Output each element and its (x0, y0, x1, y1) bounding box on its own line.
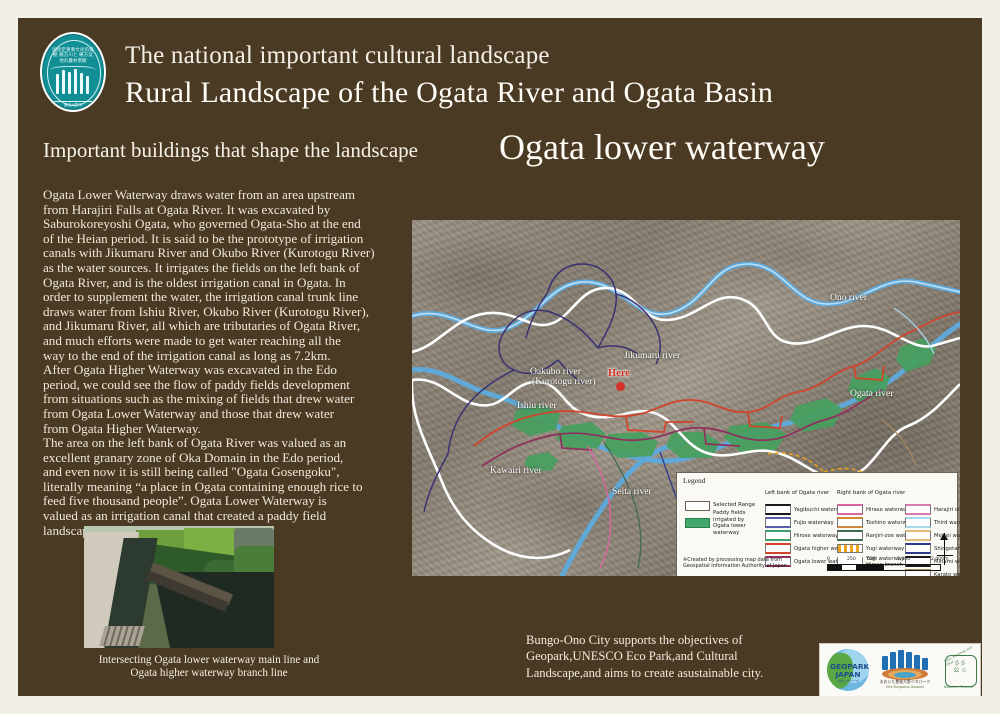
body-text-line-5: canals with Jikumaru River and Okubo Riv… (43, 246, 415, 261)
map-legend: Legend Selected Range Paddy fields irrig… (676, 472, 958, 576)
ogata-waterway-map[interactable]: Ono riverJikumaru riverOakubo river(Kuro… (412, 220, 960, 576)
seal-bottom-text: 豊後大野市 (42, 103, 104, 108)
map-label-6: Kawairi river (490, 465, 541, 476)
oita-geopark-en: Oita Bungoono Geopark (876, 685, 934, 690)
body-text-line-15: from situations such as the mixing of fi… (43, 392, 415, 407)
map-label-0: Ono river (830, 292, 867, 303)
body-text-line-12: way to the end of the irrigation canal a… (43, 349, 415, 364)
body-text-line-9: draws water from Ishiu River, Okubo Rive… (43, 305, 415, 320)
body-text-line-8: order to supplement the water, the irrig… (43, 290, 415, 305)
body-text-line-21: literally meaning “a place in Ogata cont… (43, 480, 415, 495)
geoparks-japan-logo-icon: GEOPARKS JAPAN 日本ジオパーク (827, 649, 869, 691)
waterway-photo (84, 526, 274, 648)
poster-canvas: 国指定重要文化的景観 緒方川と 緒方盆地の農村景観 豊後大野市 The nati… (18, 18, 982, 696)
seal-japanese-text: 国指定重要文化的景観 緒方川と 緒方盆地の農村景観 (51, 48, 95, 64)
scale-bar-graphic (827, 564, 941, 571)
map-label-5: Ishiu river (517, 400, 557, 411)
body-text-line-20: and even now it is still being called "O… (43, 465, 415, 480)
body-text-line-19: excellent granary zone of Oka Domain in … (43, 451, 415, 466)
body-text-line-3: Saburokoreyoshi Ogata, who governed Ogat… (43, 217, 415, 232)
map-label-7: Seita river (612, 486, 652, 497)
photo-caption-line1: Intersecting Ogata lower waterway main l… (44, 654, 374, 667)
legend-selected-range-label: Selected Range (713, 502, 755, 509)
body-text-line-7: Ogata River, and is the oldest irrigatio… (43, 276, 415, 291)
scale-tick-2: 500 (867, 557, 876, 562)
here-marker-label: Here (608, 368, 630, 379)
header-line1: The national important cultural landscap… (125, 42, 550, 70)
body-text-line-1: Ogata Lower Waterway draws water from an… (43, 188, 415, 203)
biosphere-top-text: Sobo, Katamuki and Okue (943, 641, 982, 667)
footer-logo-strip: GEOPARKS JAPAN 日本ジオパーク おおいた豊後大野ジオパーク Oit… (819, 643, 981, 696)
footer-text: Bungo-Ono City supports the objectives o… (526, 632, 816, 681)
map-label-1: Jikumaru river (624, 350, 680, 361)
legend-title: Legend (683, 476, 706, 485)
scale-tick-1: 250 (847, 557, 856, 562)
photo-caption-line2: Ogata higher waterway branch line (44, 667, 374, 680)
body-text-line-17: from Ogata Higher Waterway. (43, 422, 415, 437)
photo-caption: Intersecting Ogata lower waterway main l… (44, 654, 374, 680)
body-text-line-10: and Jikumaru River, all which are tribut… (43, 319, 415, 334)
paddy-fields-swatch-icon (685, 518, 710, 528)
header-line2: Rural Landscape of the Ogata River and O… (125, 76, 773, 110)
legend-attribution: ※Created by processing map data from Geo… (683, 557, 787, 570)
map-label-4: Ogata river (850, 388, 893, 399)
body-text-line-13: After Ogata Higher Waterway was excavate… (43, 363, 415, 378)
map-label-3: (Kurotogu river) (532, 376, 596, 387)
legend-paddy-fields-label: Paddy fields irrigated by Ogata lower wa… (713, 510, 759, 536)
body-text-line-11: and much efforts were made to get water … (43, 334, 415, 349)
legend-item-label: Karato waterway (934, 572, 960, 577)
ogata-landscape-seal-icon: 国指定重要文化的景観 緒方川と 緒方盆地の農村景観 豊後大野市 (40, 32, 106, 110)
body-text: Ogata Lower Waterway draws water from an… (43, 188, 415, 538)
legend-paddy-fields: Paddy fields irrigated by Ogata lower wa… (685, 510, 763, 536)
oita-bungoono-geopark-logo-icon: おおいた豊後大野ジオパーク Oita Bungoono Geopark (876, 648, 934, 693)
north-arrow-icon (937, 533, 953, 567)
footer-line2: Geopark,UNESCO Eco Park,and Cultural (526, 648, 816, 664)
legend-col-head-left: Left bank of Ogata river (765, 490, 829, 496)
body-text-line-4: of the Heian period. It is said to be th… (43, 232, 415, 247)
body-text-line-18: The area on the left bank of Ogata River… (43, 436, 415, 451)
body-text-line-2: from Harajiri Falls at Ogata River. It w… (43, 203, 415, 218)
biosphere-bottom-text: Biosphere Reserve (944, 685, 973, 689)
body-text-line-14: period, we could see the flow of paddy f… (43, 378, 415, 393)
legend-col-head-right: Right bank of Ogata river (837, 490, 905, 496)
legend-attribution-line2: Geospatial Information Authority of Japa… (683, 563, 787, 569)
footer-line1: Bungo-Ono City supports the objectives o… (526, 632, 816, 648)
poster-header: 国指定重要文化的景観 緒方川と 緒方盆地の農村景観 豊後大野市 The nati… (40, 28, 870, 118)
body-text-line-23: valued as an irrigation canal that creat… (43, 509, 415, 524)
body-text-line-6: as the water sources. It irrigates the f… (43, 261, 415, 276)
body-text-line-22: feed five thousand people”. Ogata Lower … (43, 494, 415, 509)
scale-tick-3: 1,000 (897, 557, 910, 562)
section-subtitle-right: Ogata lower waterway (499, 126, 825, 168)
section-subtitle-left: Important buildings that shape the lands… (43, 138, 418, 163)
footer-line3: Landscape,and aims to create asustainabl… (526, 665, 816, 681)
oita-geopark-jp: おおいた豊後大野ジオパーク (880, 679, 931, 684)
geoparks-japan-tiny: 日本ジオパーク (830, 678, 866, 686)
biosphere-reserve-logo-icon: 彡彡公 ☉ Sobo, Katamuki and Okue Biosphere … (939, 648, 982, 692)
scale-tick-0: 0 (827, 557, 830, 562)
geoparks-japan-sub: JAPAN (830, 671, 866, 679)
here-marker-dot-icon (616, 382, 625, 391)
body-text-line-16: from Ogata Lower Waterway and those that… (43, 407, 415, 422)
selected-range-swatch-icon (685, 501, 710, 511)
